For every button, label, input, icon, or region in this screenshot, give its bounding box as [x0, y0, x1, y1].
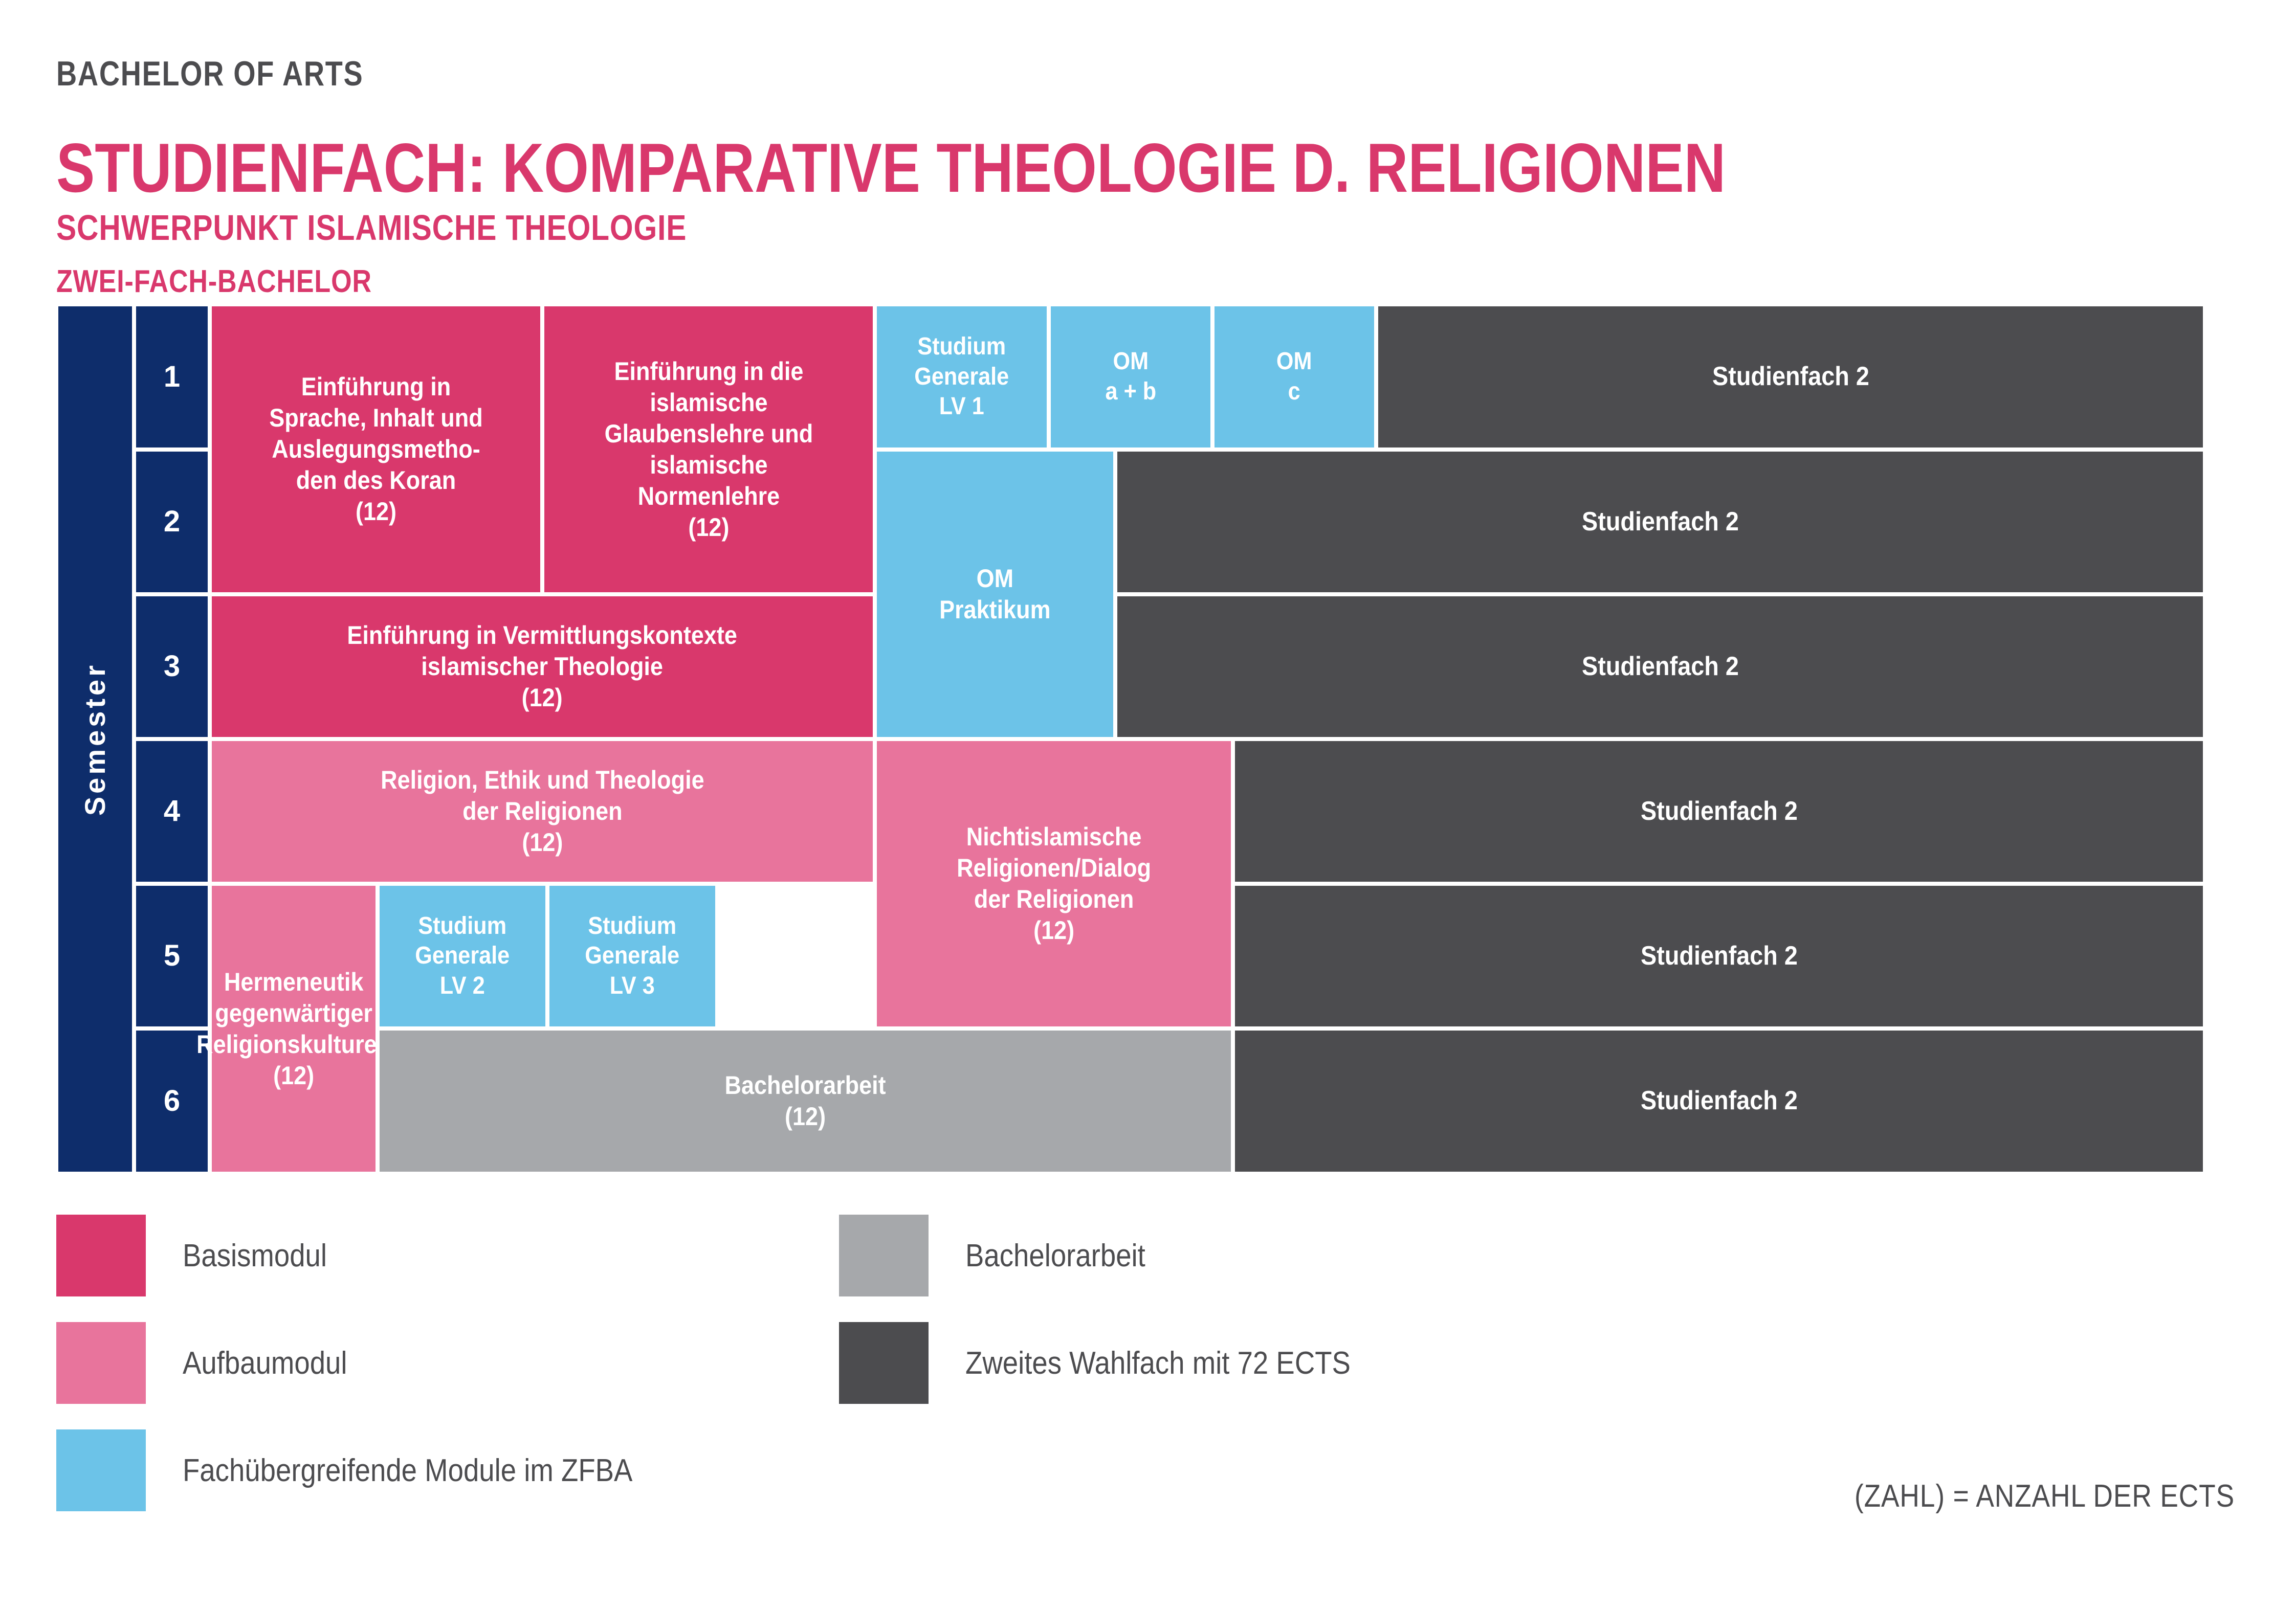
second-subject-sem3[interactable]: Studienfach 2 — [1115, 594, 2205, 739]
second-subject-sem2[interactable]: Studienfach 2 — [1115, 450, 2205, 594]
legend-swatch-zweites-wahlfach — [839, 1322, 929, 1404]
module-sg-lv1[interactable]: StudiumGeneraleLV 1 — [875, 304, 1049, 450]
module-hermeneutik[interactable]: HermeneutikgegenwärtigerReligionskulture… — [210, 884, 378, 1174]
module-label: Bachelorarbeit(12) — [724, 1070, 886, 1132]
semester-cell-4: 4 — [134, 739, 210, 884]
module-label: OMPraktikum — [939, 563, 1051, 625]
module-koran[interactable]: Einführung inSprache, Inhalt undAuslegun… — [210, 304, 542, 594]
degree-type: ZWEI-FACH-BACHELOR — [56, 263, 372, 300]
second-subject-sem1[interactable]: Studienfach 2 — [1376, 304, 2205, 450]
module-ethik[interactable]: Religion, Ethik und Theologieder Religio… — [210, 739, 875, 884]
module-label: StudiumGeneraleLV 1 — [915, 332, 1009, 422]
semester-number: 5 — [164, 938, 180, 974]
ects-footnote: (ZAHL) = ANZAHL DER ECTS — [1855, 1478, 2235, 1514]
module-label: Einführung inSprache, Inhalt undAuslegun… — [269, 371, 483, 527]
module-glaubenslehre[interactable]: Einführung in dieislamischeGlaubenslehre… — [542, 304, 875, 594]
semester-grid: Semester 1 2 3 4 5 6 Einführung inSprach… — [56, 304, 2205, 1174]
second-subject-sem5[interactable]: Studienfach 2 — [1233, 884, 2205, 1028]
legend-label: Zweites Wahlfach mit 72 ECTS — [965, 1345, 1351, 1381]
semester-number: 1 — [164, 359, 180, 395]
module-label: NichtislamischeReligionen/Dialogder Reli… — [957, 821, 1151, 946]
module-label: StudiumGeneraleLV 2 — [415, 911, 510, 1001]
legend-swatch-aufbaumodul — [56, 1322, 146, 1404]
degree-kicker: BACHELOR OF ARTS — [56, 54, 363, 94]
second-subject-sem4[interactable]: Studienfach 2 — [1233, 739, 2205, 884]
semester-number: 6 — [164, 1083, 180, 1120]
second-subject-label: Studienfach 2 — [1712, 361, 1869, 393]
module-label: OMc — [1276, 347, 1312, 407]
semester-axis-label: Semester — [56, 304, 134, 1174]
legend-swatch-basismodul — [56, 1215, 146, 1296]
legend-swatch-fachuebergreifend — [56, 1429, 146, 1511]
module-om-c[interactable]: OMc — [1212, 304, 1376, 450]
module-om-praktikum[interactable]: OMPraktikum — [875, 450, 1115, 739]
legend-label: Fachübergreifende Module im ZFBA — [183, 1452, 632, 1489]
legend-item-bachelorarbeit: Bachelorarbeit — [839, 1215, 1170, 1296]
legend-item-basismodul: Basismodul — [56, 1215, 346, 1296]
semester-cell-3: 3 — [134, 594, 210, 739]
legend-item-zweites-wahlfach: Zweites Wahlfach mit 72 ECTS — [839, 1322, 1403, 1404]
page-title: STUDIENFACH: KOMPARATIVE THEOLOGIE D. RE… — [56, 128, 1726, 208]
second-subject-label: Studienfach 2 — [1641, 795, 1798, 827]
legend-item-fachuebergreifend: Fachübergreifende Module im ZFBA — [56, 1429, 694, 1511]
legend-item-aufbaumodul: Aufbaumodul — [56, 1322, 369, 1404]
legend-swatch-bachelorarbeit — [839, 1215, 929, 1296]
module-nichtislamische[interactable]: NichtislamischeReligionen/Dialogder Reli… — [875, 739, 1233, 1028]
module-sg-lv3[interactable]: StudiumGeneraleLV 3 — [547, 884, 717, 1028]
semester-axis-text: Semester — [78, 662, 113, 816]
module-sg-lv2[interactable]: StudiumGeneraleLV 2 — [378, 884, 547, 1028]
module-label: Einführung in Vermittlungskontexteislami… — [347, 620, 738, 713]
legend-label: Aufbaumodul — [183, 1345, 347, 1381]
second-subject-sem6[interactable]: Studienfach 2 — [1233, 1028, 2205, 1174]
module-label: Einführung in dieislamischeGlaubenslehre… — [604, 356, 813, 543]
semester-cell-2: 2 — [134, 450, 210, 594]
module-om-ab[interactable]: OMa + b — [1049, 304, 1212, 450]
second-subject-label: Studienfach 2 — [1582, 651, 1739, 683]
semester-number: 3 — [164, 648, 180, 685]
module-label: OMa + b — [1105, 347, 1156, 407]
legend-label: Basismodul — [183, 1238, 327, 1274]
semester-number: 4 — [164, 793, 180, 830]
second-subject-label: Studienfach 2 — [1641, 1085, 1798, 1117]
second-subject-label: Studienfach 2 — [1641, 940, 1798, 972]
module-vermittlung[interactable]: Einführung in Vermittlungskontexteislami… — [210, 594, 875, 739]
module-bachelorarbeit[interactable]: Bachelorarbeit(12) — [378, 1028, 1233, 1174]
module-label: HermeneutikgegenwärtigerReligionskulture… — [196, 967, 391, 1091]
second-subject-label: Studienfach 2 — [1582, 506, 1739, 538]
curriculum-diagram: BACHELOR OF ARTS STUDIENFACH: KOMPARATIV… — [0, 0, 2296, 1611]
page-subtitle: SCHWERPUNKT ISLAMISCHE THEOLOGIE — [56, 207, 687, 248]
legend-label: Bachelorarbeit — [965, 1238, 1145, 1274]
semester-cell-1: 1 — [134, 304, 210, 450]
semester-number: 2 — [164, 504, 180, 540]
module-label: StudiumGeneraleLV 3 — [585, 911, 680, 1001]
module-label: Religion, Ethik und Theologieder Religio… — [381, 765, 704, 858]
